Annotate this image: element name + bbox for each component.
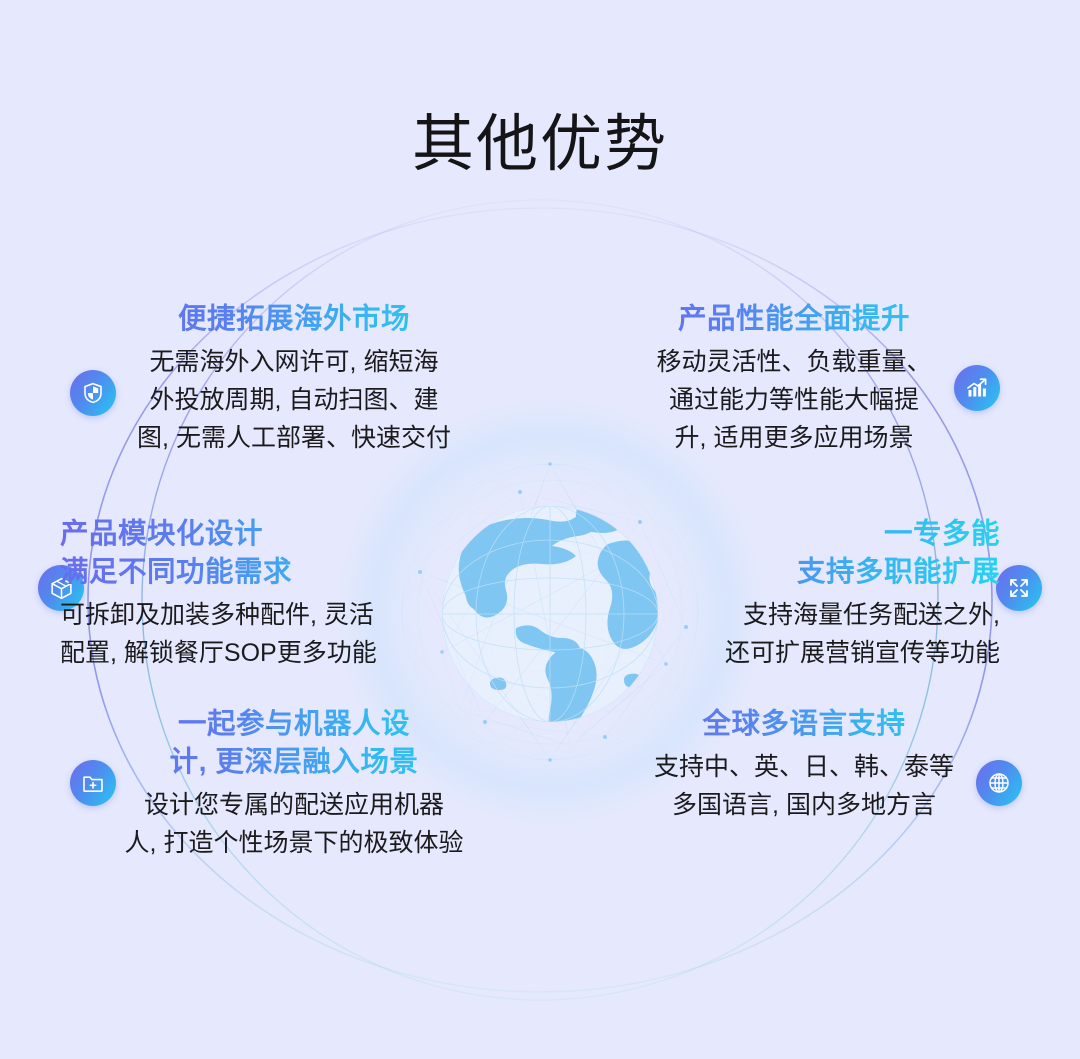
feature-heading: 满足不同功能需求: [60, 553, 452, 591]
feature-body: 支持中、英、日、韩、泰等 多国语言, 国内多地方言: [608, 748, 1000, 824]
feature-heading: 一专多能: [608, 515, 1000, 553]
feature-body-line: 设计您专属的配送应用机器: [98, 786, 490, 824]
feature-body: 设计您专属的配送应用机器 人, 打造个性场景下的极致体验: [98, 786, 490, 862]
feature-body: 可拆卸及加装多种配件, 灵活 配置, 解锁餐厅SOP更多功能: [60, 596, 452, 672]
feature-body-line: 升, 适用更多应用场景: [598, 419, 990, 457]
feature-body-line: 多国语言, 国内多地方言: [608, 786, 1000, 824]
feature-body: 无需海外入网许可, 缩短海 外投放周期, 自动扫图、建 图, 无需人工部署、快速…: [98, 343, 490, 457]
feature-heading: 计, 更深层融入场景: [98, 743, 490, 781]
expand-arrows-icon[interactable]: [996, 565, 1042, 611]
feature-body-line: 还可扩展营销宣传等功能: [608, 634, 1000, 672]
feature-block-language: 全球多语言支持 支持中、英、日、韩、泰等 多国语言, 国内多地方言: [608, 705, 1000, 824]
feature-body: 支持海量任务配送之外, 还可扩展营销宣传等功能: [608, 596, 1000, 672]
feature-body-line: 通过能力等性能大幅提: [598, 381, 990, 419]
feature-block-multifunction: 一专多能 支持多职能扩展 支持海量任务配送之外, 还可扩展营销宣传等功能: [608, 515, 1000, 672]
feature-block-modular: 产品模块化设计 满足不同功能需求 可拆卸及加装多种配件, 灵活 配置, 解锁餐厅…: [60, 515, 452, 672]
feature-body-line: 外投放周期, 自动扫图、建: [98, 381, 490, 419]
feature-heading: 一起参与机器人设: [98, 705, 490, 743]
feature-body-line: 支持海量任务配送之外,: [608, 596, 1000, 634]
feature-body-line: 人, 打造个性场景下的极致体验: [98, 824, 490, 862]
feature-body-line: 配置, 解锁餐厅SOP更多功能: [60, 634, 452, 672]
feature-block-overseas: 便捷拓展海外市场 无需海外入网许可, 缩短海 外投放周期, 自动扫图、建 图, …: [98, 300, 490, 457]
feature-body-line: 移动灵活性、负载重量、: [598, 343, 990, 381]
feature-heading: 产品性能全面提升: [598, 300, 990, 338]
feature-heading: 便捷拓展海外市场: [98, 300, 490, 338]
feature-body-line: 无需海外入网许可, 缩短海: [98, 343, 490, 381]
feature-body: 移动灵活性、负载重量、 通过能力等性能大幅提 升, 适用更多应用场景: [598, 343, 990, 457]
feature-heading: 产品模块化设计: [60, 515, 452, 553]
page-title: 其他优势: [0, 106, 1080, 184]
feature-heading: 支持多职能扩展: [608, 553, 1000, 591]
feature-block-codesign: 一起参与机器人设 计, 更深层融入场景 设计您专属的配送应用机器 人, 打造个性…: [98, 705, 490, 862]
feature-body-line: 图, 无需人工部署、快速交付: [98, 419, 490, 457]
feature-body-line: 支持中、英、日、韩、泰等: [608, 748, 1000, 786]
feature-heading: 全球多语言支持: [608, 705, 1000, 743]
feature-body-line: 可拆卸及加装多种配件, 灵活: [60, 596, 452, 634]
feature-block-performance: 产品性能全面提升 移动灵活性、负载重量、 通过能力等性能大幅提 升, 适用更多应…: [598, 300, 990, 457]
